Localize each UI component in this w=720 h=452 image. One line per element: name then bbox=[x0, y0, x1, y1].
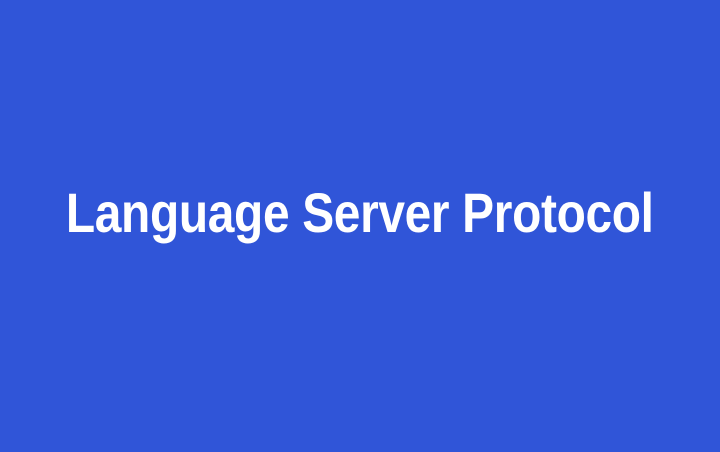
hero-banner: Language Server Protocol bbox=[0, 0, 720, 452]
hero-title-container: Language Server Protocol bbox=[0, 193, 720, 236]
page-title: Language Server Protocol bbox=[66, 193, 654, 233]
